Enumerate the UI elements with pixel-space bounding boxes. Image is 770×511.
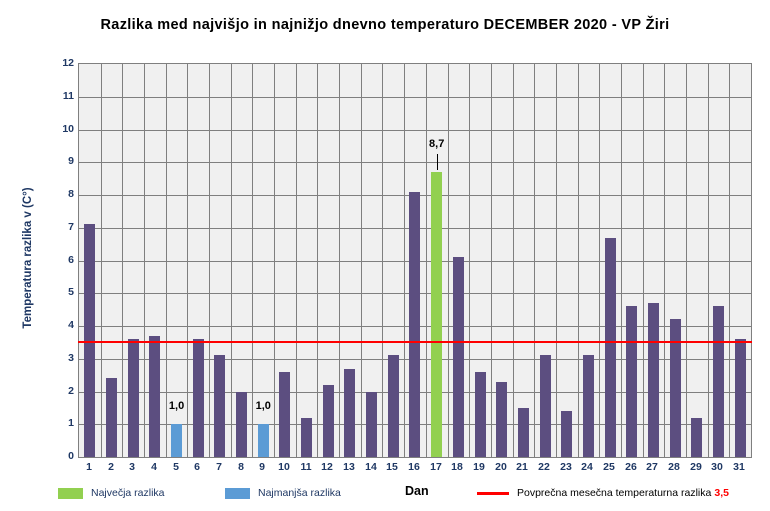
x-axis-tick-label-13: 13 [338, 461, 360, 474]
x-axis-tick-label-17: 17 [425, 461, 447, 474]
data-labels-layer: 1,01,08,7 [79, 64, 751, 457]
x-axis-tick-label-31: 31 [728, 461, 750, 474]
x-axis-tick-label-18: 18 [446, 461, 468, 474]
x-axis-tick-label-11: 11 [295, 461, 317, 474]
x-axis-tick-label-26: 26 [620, 461, 642, 474]
x-axis-tick-label-22: 22 [533, 461, 555, 474]
x-axis-title: Dan [405, 484, 429, 498]
y-axis-tick-label: 8 [48, 189, 74, 200]
legend-label-min: Najmanjša razlika [258, 487, 341, 499]
y-axis-tick-label: 1 [48, 418, 74, 429]
x-axis-tick-label-3: 3 [121, 461, 143, 474]
legend-value-average: 3,5 [714, 487, 729, 499]
y-axis-tick-label: 0 [48, 451, 74, 462]
legend-item-max: Največja razlika [58, 484, 165, 502]
x-axis-tick-label-12: 12 [316, 461, 338, 474]
x-axis-tick-label-24: 24 [576, 461, 598, 474]
y-axis-tick-label: 12 [48, 58, 74, 69]
x-axis-tick-label-4: 4 [143, 461, 165, 474]
x-axis-tick-label-15: 15 [381, 461, 403, 474]
data-label-day-5: 1,0 [157, 400, 197, 412]
x-axis-tick-label-21: 21 [511, 461, 533, 474]
x-axis-tick-label-16: 16 [403, 461, 425, 474]
legend-item-min: Najmanjša razlika [225, 484, 341, 502]
x-axis-tick-labels: 1234567891011121314151617181920212223242… [78, 461, 752, 477]
plot-area: 1,01,08,7 [78, 63, 752, 458]
data-label-day-9: 1,0 [243, 400, 283, 412]
x-axis-tick-label-27: 27 [641, 461, 663, 474]
chart-title: Razlika med najvišjo in najnižjo dnevno … [0, 17, 770, 33]
y-axis-tick-label: 6 [48, 255, 74, 266]
legend-label-max: Največja razlika [91, 487, 165, 499]
y-axis-tick-label: 7 [48, 222, 74, 233]
x-axis-tick-label-23: 23 [555, 461, 577, 474]
x-axis-tick-label-9: 9 [251, 461, 273, 474]
data-label-leader-day-17 [437, 154, 438, 170]
y-axis-title: Temperatura razlika v (C°) [22, 108, 34, 408]
chart-legend: Največja razlika Najmanjša razlika Dan P… [0, 484, 770, 506]
x-axis-tick-label-7: 7 [208, 461, 230, 474]
legend-line-average-icon [477, 492, 509, 495]
legend-swatch-min-icon [225, 488, 250, 499]
legend-swatch-max-icon [58, 488, 83, 499]
y-axis-tick-labels: 0123456789101112 [44, 63, 74, 458]
x-axis-tick-label-14: 14 [360, 461, 382, 474]
x-axis-tick-label-10: 10 [273, 461, 295, 474]
x-axis-tick-label-30: 30 [706, 461, 728, 474]
x-axis-tick-label-6: 6 [186, 461, 208, 474]
y-axis-tick-label: 9 [48, 156, 74, 167]
y-axis-tick-label: 5 [48, 287, 74, 298]
x-axis-tick-label-8: 8 [230, 461, 252, 474]
y-axis-tick-label: 11 [48, 91, 74, 102]
y-axis-tick-label: 2 [48, 386, 74, 397]
x-axis-tick-label-28: 28 [663, 461, 685, 474]
legend-item-average: Povprečna mesečna temperaturna razlika 3… [477, 484, 729, 502]
data-label-day-17: 8,7 [417, 138, 457, 150]
x-axis-tick-label-5: 5 [165, 461, 187, 474]
chart-container: Razlika med najvišjo in najnižjo dnevno … [0, 0, 770, 511]
y-axis-tick-label: 3 [48, 353, 74, 364]
x-axis-tick-label-1: 1 [78, 461, 100, 474]
y-axis-tick-label: 10 [48, 124, 74, 135]
x-axis-tick-label-20: 20 [490, 461, 512, 474]
legend-label-average: Povprečna mesečna temperaturna razlika [517, 487, 711, 499]
x-axis-tick-label-2: 2 [100, 461, 122, 474]
x-axis-tick-label-25: 25 [598, 461, 620, 474]
x-axis-tick-label-19: 19 [468, 461, 490, 474]
y-axis-tick-label: 4 [48, 320, 74, 331]
x-axis-tick-label-29: 29 [685, 461, 707, 474]
